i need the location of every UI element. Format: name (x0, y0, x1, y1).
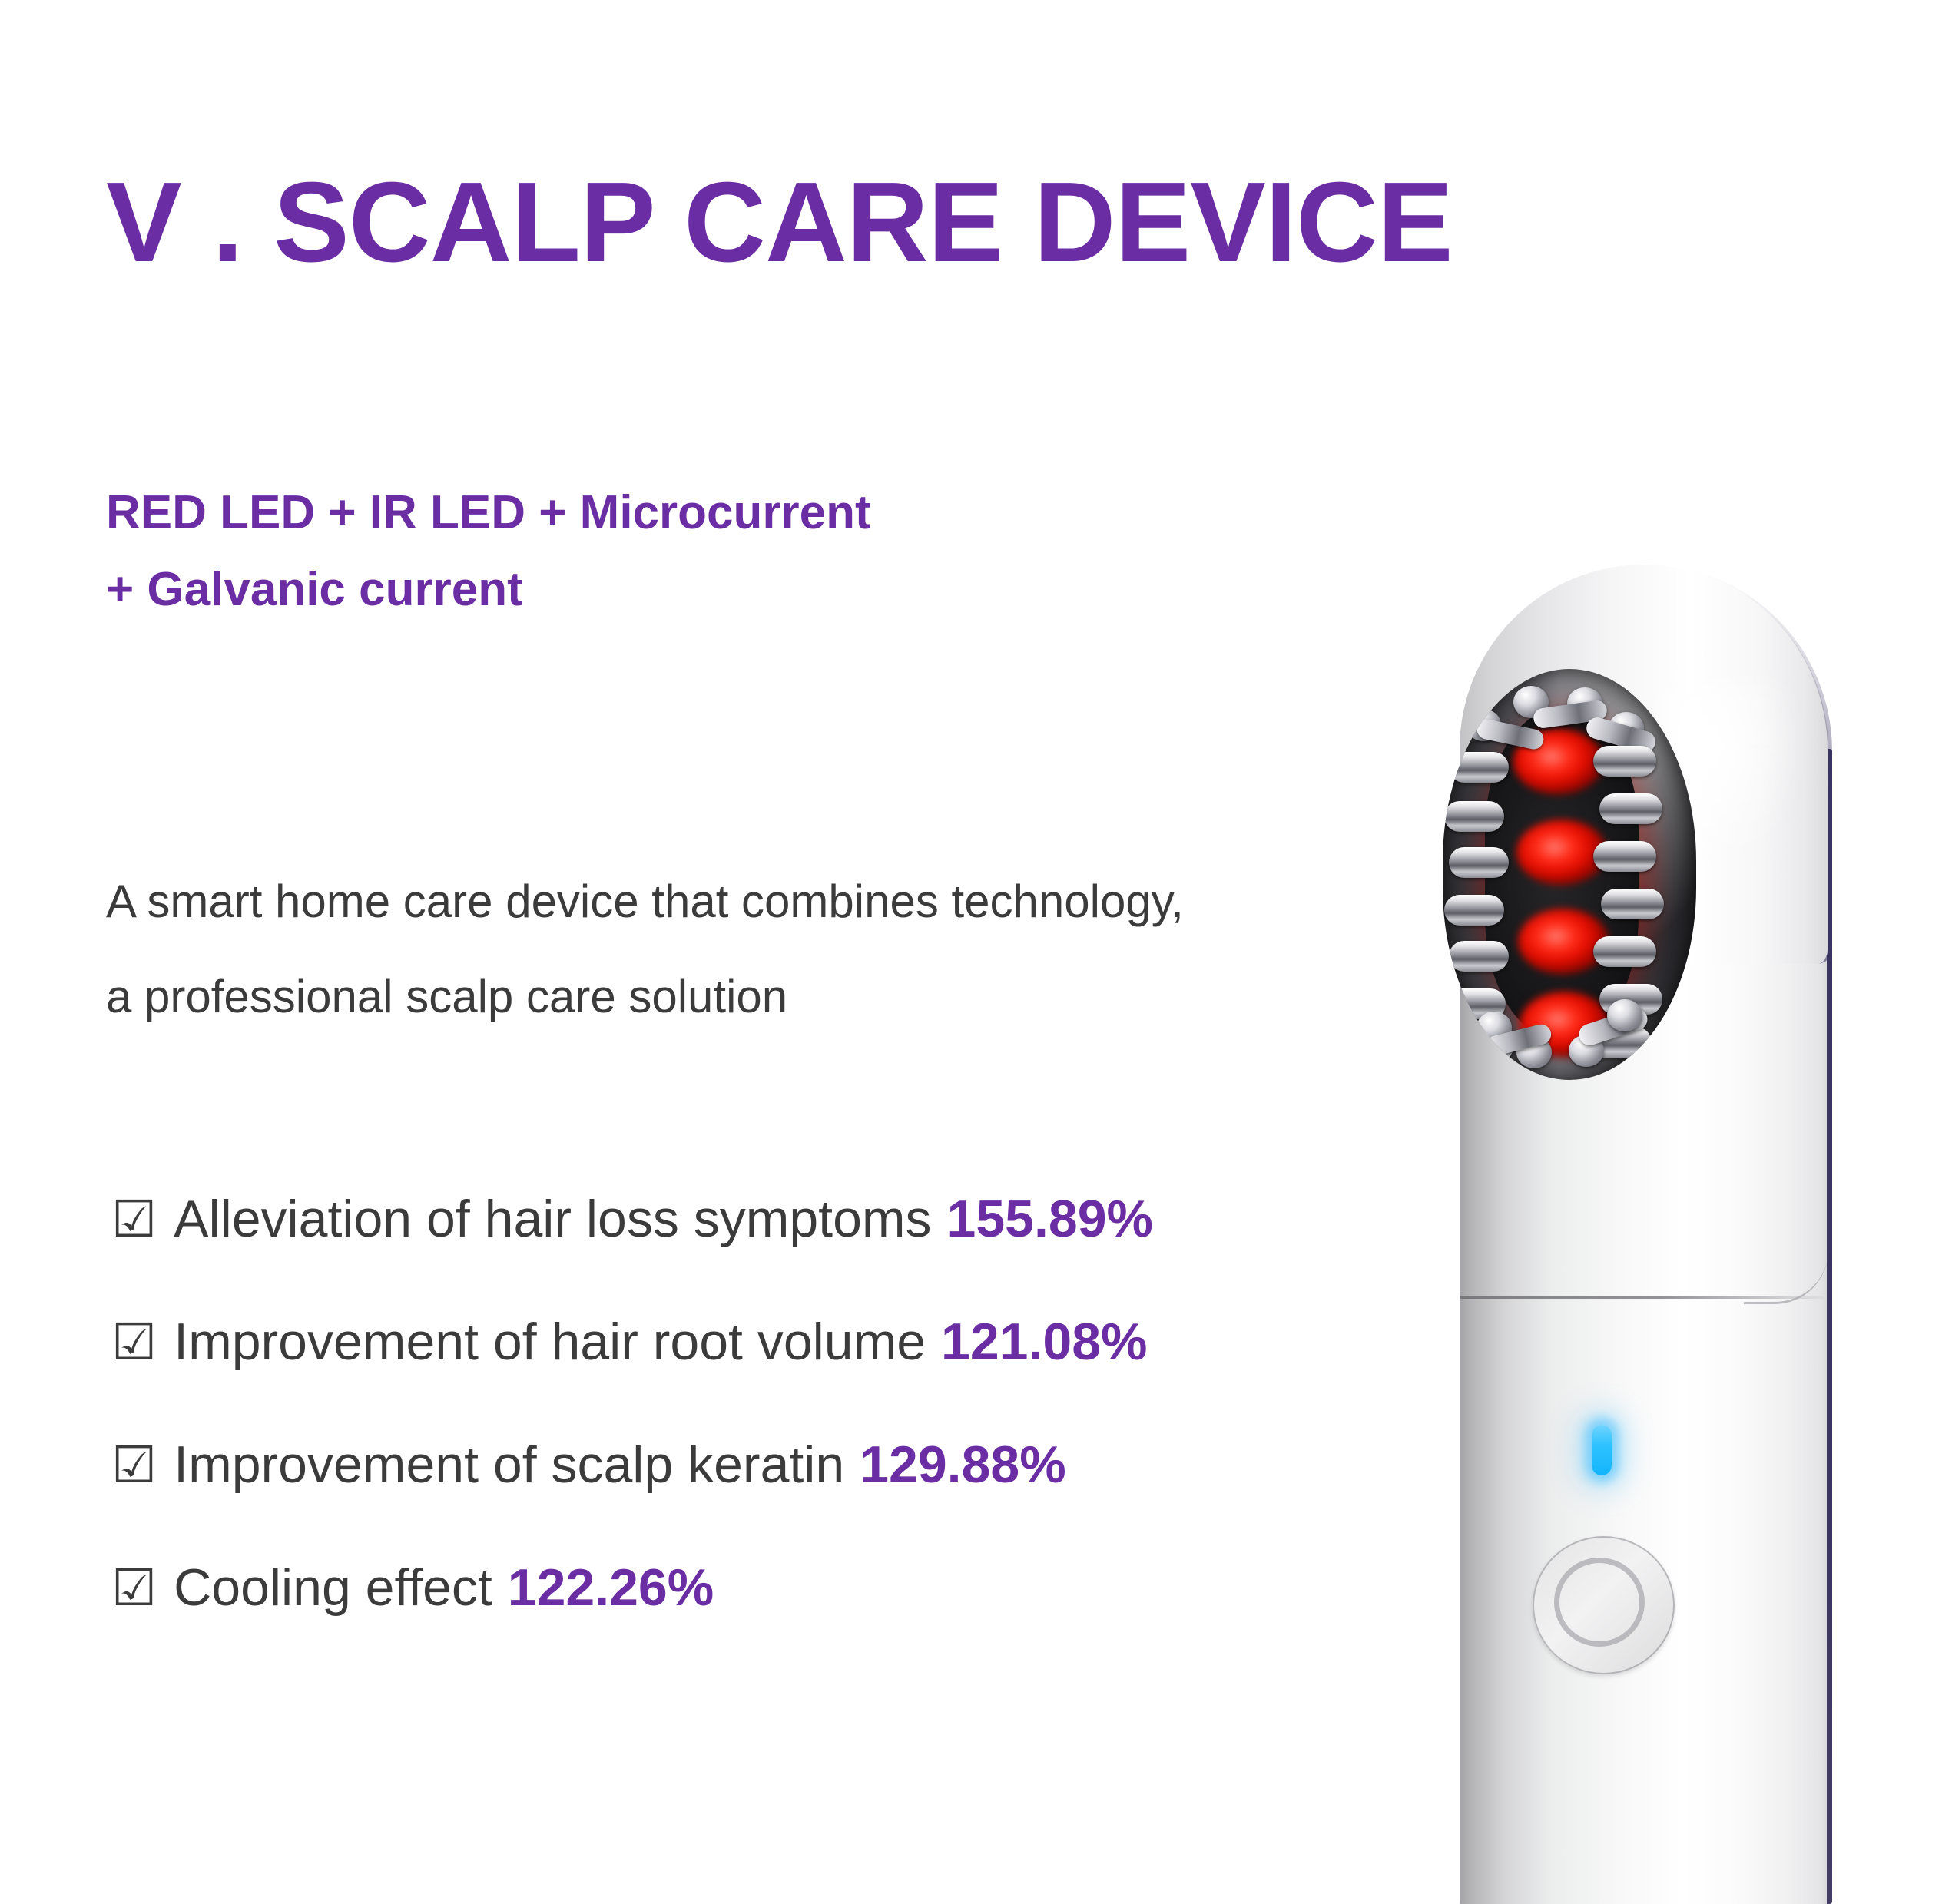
subtitle-line-2: + Galvanic current (106, 551, 871, 628)
red-led (1518, 909, 1609, 975)
feature-list: ☑ Alleviation of hair loss symptoms 155.… (111, 1189, 1153, 1680)
slide-canvas: V . SCALP CARE DEVICE RED LED + IR LED +… (0, 0, 1952, 1904)
chrome-pin (1607, 999, 1642, 1031)
chrome-pin (1449, 752, 1509, 783)
status-led-indicator (1592, 1425, 1612, 1475)
chrome-pin (1449, 847, 1509, 878)
checkbox-checked-icon: ☑ (111, 1563, 157, 1614)
chrome-pin (1444, 895, 1504, 926)
brush-head (1443, 669, 1696, 1080)
page-title: V . SCALP CARE DEVICE (106, 166, 1453, 280)
feature-label: Improvement of scalp keratin (174, 1435, 844, 1495)
checkbox-checked-icon: ☑ (111, 1317, 157, 1368)
chrome-pin (1449, 941, 1509, 972)
chrome-pin (1593, 841, 1656, 872)
chrome-pin (1601, 889, 1664, 919)
list-item: ☑ Improvement of scalp keratin 129.88% (111, 1435, 1153, 1558)
feature-label: Improvement of hair root volume (174, 1312, 926, 1372)
chrome-pin (1593, 936, 1656, 967)
subtitle-block: RED LED + IR LED + Microcurrent + Galvan… (106, 475, 871, 629)
feature-value: 122.26% (508, 1558, 714, 1618)
scalp-care-device-photo (1413, 657, 1874, 1904)
feature-value: 155.89% (947, 1189, 1153, 1249)
power-button[interactable] (1533, 1536, 1675, 1674)
subtitle-line-1: RED LED + IR LED + Microcurrent (106, 475, 871, 551)
device-seam-line (1460, 1296, 1824, 1299)
checkbox-checked-icon: ☑ (111, 1440, 157, 1491)
list-item: ☑ Improvement of hair root volume 121.08… (111, 1312, 1153, 1435)
checkbox-checked-icon: ☑ (111, 1194, 157, 1245)
description-line-2: a professional scalp care solution (106, 949, 1184, 1045)
feature-label: Alleviation of hair loss symptoms (174, 1189, 931, 1249)
feature-value: 129.88% (860, 1435, 1065, 1495)
list-item: ☑ Alleviation of hair loss symptoms 155.… (111, 1189, 1153, 1312)
chrome-pin (1593, 746, 1656, 777)
feature-label: Cooling effect (174, 1558, 492, 1618)
description-block: A smart home care device that combines t… (106, 854, 1184, 1045)
list-item: ☑ Cooling effect 122.26% (111, 1558, 1153, 1680)
feature-value: 121.08% (941, 1312, 1147, 1372)
description-line-1: A smart home care device that combines t… (106, 854, 1184, 949)
chrome-pin (1444, 801, 1504, 832)
chrome-pin (1599, 793, 1662, 824)
